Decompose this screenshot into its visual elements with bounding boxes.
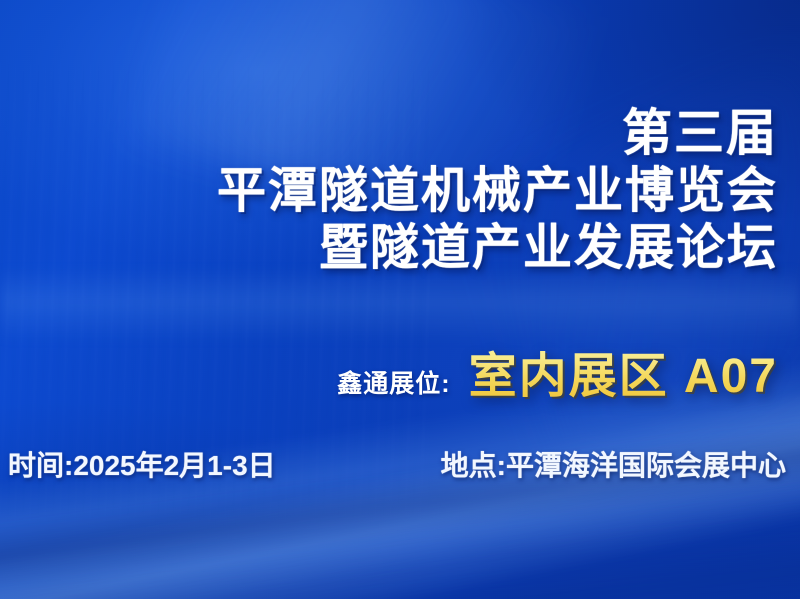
poster-content: 第三届 平潭隧道机械产业博览会 暨隧道产业发展论坛 鑫通展位: 室内展区 A07… (0, 0, 800, 599)
event-title-line-3: 暨隧道产业发展论坛 (18, 224, 778, 273)
event-venue: 地点:平潭海洋国际会展中心 (441, 444, 786, 484)
event-title-line-2: 平潭隧道机械产业博览会 (18, 167, 778, 216)
booth-label: 鑫通展位: (337, 364, 450, 400)
event-title-block: 第三届 平潭隧道机械产业博览会 暨隧道产业发展论坛 (18, 108, 778, 273)
booth-number: 室内展区 A07 (469, 336, 778, 406)
event-meta-row: 时间:2025年2月1-3日 地点:平潭海洋国际会展中心 (8, 444, 786, 484)
event-poster: 第三届 平潭隧道机械产业博览会 暨隧道产业发展论坛 鑫通展位: 室内展区 A07… (0, 0, 800, 599)
event-title-line-1: 第三届 (18, 108, 778, 158)
event-date: 时间:2025年2月1-3日 (8, 444, 276, 484)
booth-info-row: 鑫通展位: 室内展区 A07 (18, 336, 778, 406)
